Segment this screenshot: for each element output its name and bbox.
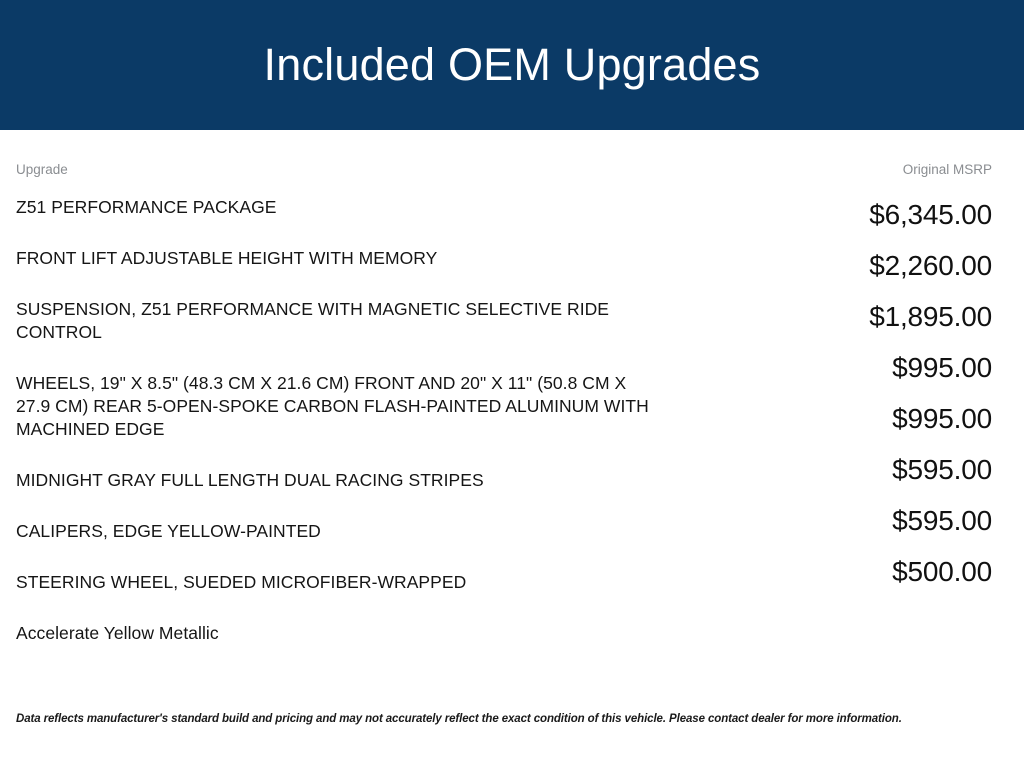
upgrade-name: Accelerate Yellow Metallic [16, 622, 656, 645]
upgrade-name: Z51 PERFORMANCE PACKAGE [16, 196, 656, 219]
upgrade-price: $595.00 [672, 453, 992, 504]
column-header-original-msrp: Original MSRP [903, 162, 992, 178]
upgrade-price: $2,260.00 [672, 249, 992, 300]
upgrade-name: FRONT LIFT ADJUSTABLE HEIGHT WITH MEMORY [16, 247, 656, 270]
upgrade-price-column: $6,345.00 $2,260.00 $1,895.00 $995.00 $9… [672, 198, 992, 606]
disclaimer-text: Data reflects manufacturer's standard bu… [16, 712, 1008, 727]
page-title: Included OEM Upgrades [0, 0, 1024, 130]
upgrade-label-column: Z51 PERFORMANCE PACKAGE FRONT LIFT ADJUS… [16, 196, 656, 645]
column-header-upgrade: Upgrade [16, 162, 68, 178]
upgrade-name: SUSPENSION, Z51 PERFORMANCE WITH MAGNETI… [16, 298, 656, 344]
oem-upgrades-page: Included OEM Upgrades Upgrade Original M… [0, 0, 1024, 768]
upgrade-price: $995.00 [672, 351, 992, 402]
upgrade-name: MIDNIGHT GRAY FULL LENGTH DUAL RACING ST… [16, 469, 656, 492]
upgrade-price: $595.00 [672, 504, 992, 555]
upgrade-price: $6,345.00 [672, 198, 992, 249]
upgrade-price: $995.00 [672, 402, 992, 453]
upgrade-price: $500.00 [672, 555, 992, 606]
upgrade-name: WHEELS, 19" X 8.5" (48.3 CM X 21.6 CM) F… [16, 372, 656, 441]
upgrade-price: $1,895.00 [672, 300, 992, 351]
page-header-banner: Included OEM Upgrades [0, 0, 1024, 130]
upgrade-name: CALIPERS, EDGE YELLOW-PAINTED [16, 520, 656, 543]
upgrade-name: STEERING WHEEL, SUEDED MICROFIBER-WRAPPE… [16, 571, 656, 594]
